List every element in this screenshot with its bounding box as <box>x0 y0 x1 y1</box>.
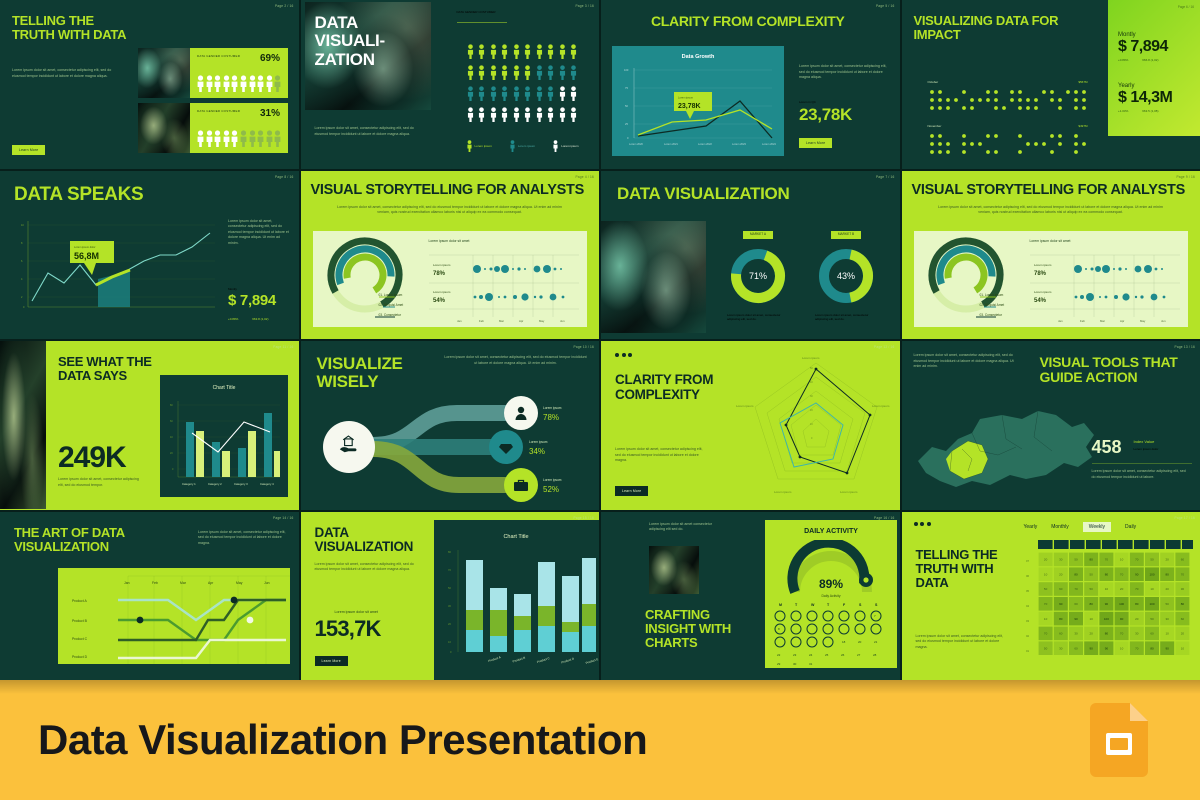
svg-text:60: 60 <box>1180 616 1184 620</box>
kpi-value: 153,7K <box>315 616 381 642</box>
pictogram-row <box>197 130 281 147</box>
svg-text:31: 31 <box>809 662 813 666</box>
page-number: Page 14 / 16 <box>273 516 293 520</box>
svg-text:43%: 43% <box>837 271 855 281</box>
legend-label: 01. Lorem ipsum <box>379 293 403 297</box>
panel-title: Lorem ipsum dolor sit amet <box>429 239 470 243</box>
svg-text:05: 05 <box>1026 589 1030 593</box>
page-number: Page 4 / 16 <box>575 175 594 179</box>
kpi-note: 666.8 (1,02) <box>1142 58 1158 63</box>
svg-text:25: 25 <box>625 122 628 126</box>
svg-text:80: 80 <box>1089 557 1093 561</box>
svg-text:Feb: Feb <box>1080 319 1085 323</box>
svg-text:100: 100 <box>624 68 629 72</box>
concentric-donut-chart <box>918 231 1028 327</box>
legend-label: 03. Consectetur <box>379 313 402 317</box>
period-tabs[interactable]: Yearly Monthly Weekly Daily <box>1024 522 1137 532</box>
slide-title: VISUAL TOOLS THAT GUIDE ACTION <box>1040 355 1190 385</box>
svg-text:Lorem ipsum: Lorem ipsum <box>872 404 890 408</box>
svg-text:10: 10 <box>1043 572 1047 576</box>
svg-text:30: 30 <box>1059 557 1063 561</box>
google-slides-icon <box>1090 703 1148 777</box>
svg-text:06: 06 <box>1026 574 1030 578</box>
svg-text:Apr: Apr <box>1120 319 1124 323</box>
tab-yearly[interactable]: Yearly <box>1024 524 1038 530</box>
svg-text:10: 10 <box>1150 587 1154 591</box>
area-chart[interactable]: Lorem ipsum dolor 56,8M 1086 420 JanFebM… <box>10 215 220 325</box>
screenshot-root: Page 2 / 16 TELLING THE TRUTH WITH DATA … <box>0 0 1200 800</box>
kpi-label: Montly <box>228 287 237 292</box>
svg-text:May: May <box>1140 319 1146 323</box>
svg-text:54%: 54% <box>433 298 446 304</box>
slide-title: TELLING THE TRUTH WITH DATA <box>12 14 132 42</box>
donut-chart: 43% <box>815 245 877 307</box>
panel-page-number: Page 6 / 16 <box>1178 5 1194 9</box>
svg-text:10: 10 <box>1089 616 1093 620</box>
svg-text:20: 20 <box>1043 557 1047 561</box>
svg-text:70: 70 <box>1074 587 1078 591</box>
svg-text:70: 70 <box>1104 557 1108 561</box>
kpi-value: $ 7,894 <box>1118 38 1190 56</box>
dot-matrix-october: October $567M <box>928 80 1088 112</box>
panel-title: DAILY ACTIVITY <box>765 528 897 535</box>
svg-text:23,78K: 23,78K <box>678 103 701 110</box>
slide-visualizing-data-for-impact[interactable]: Page 6 / 16 VISUALIZING DATA FOR IMPACT … <box>902 0 1200 169</box>
kpi-label: Lorem in Q4 <box>799 100 816 105</box>
gauge-chart: 89% Daily Activity <box>765 540 897 602</box>
svg-text:Product A: Product A <box>487 655 501 663</box>
slide-data-speaks[interactable]: Page 8 / 16 DATA SPEAKS Lorem ipsum dolo… <box>0 171 299 340</box>
svg-text:80: 80 <box>1104 631 1108 635</box>
svg-text:80: 80 <box>1074 572 1078 576</box>
dot-row-label: October <box>928 80 939 85</box>
slide-telling-the-truth-with-data-heatmap[interactable]: Page 17 / 16 TELLING THE TRUTH WITH DATA… <box>902 512 1200 681</box>
svg-text:20: 20 <box>1059 572 1063 576</box>
svg-text:90: 90 <box>1135 572 1139 576</box>
slide-body: Lorem ipsum dolor sit amet, consectetur … <box>799 64 891 81</box>
svg-text:27: 27 <box>857 653 861 657</box>
svg-text:78%: 78% <box>433 271 446 277</box>
svg-text:78%: 78% <box>1034 271 1047 277</box>
svg-text:Category 2: Category 2 <box>208 482 222 486</box>
legend-label: 02. Sit quisi Amet <box>379 303 404 307</box>
donut-caption: Lorem ipsum dolor sit amet, consectetur … <box>727 313 789 322</box>
svg-text:01: 01 <box>1026 649 1030 653</box>
slide-thumbnail-grid: Page 2 / 16 TELLING THE TRUTH WITH DATA … <box>0 0 1200 680</box>
line-chart-panel[interactable]: Data Growth 10075 50250 Lorem 2020Lorem … <box>612 46 784 156</box>
svg-text:50: 50 <box>1043 646 1047 650</box>
daily-activity-panel[interactable]: DAILY ACTIVITY 89% Daily Activity MTW TF… <box>765 520 897 668</box>
svg-text:Lorem 2023: Lorem 2023 <box>732 142 746 146</box>
donut-chart: 71% <box>727 245 789 307</box>
svg-text:Lorem ipsum: Lorem ipsum <box>840 490 858 494</box>
svg-text:50: 50 <box>810 367 813 370</box>
svg-text:Lorem ipsum: Lorem ipsum <box>433 290 451 294</box>
svg-text:90: 90 <box>1119 616 1123 620</box>
svg-text:50: 50 <box>1150 616 1154 620</box>
svg-text:80: 80 <box>1104 572 1108 576</box>
svg-text:60: 60 <box>1059 631 1063 635</box>
abstract-image <box>649 546 699 594</box>
slide-body: Lorem ipsum dolor sit amet, consectetur … <box>198 530 290 547</box>
panel-title: Lorem ipsum dolor sit amet <box>1030 239 1071 243</box>
svg-text:Jun: Jun <box>560 319 565 323</box>
divider <box>1092 463 1192 464</box>
stat-card-value: 31% <box>260 108 280 119</box>
svg-text:26: 26 <box>841 653 845 657</box>
slide-data-visualization-donuts[interactable]: Page 7 / 16 DATA VISUALIZATION MARKET A … <box>601 171 900 340</box>
svg-text:Product B: Product B <box>72 619 88 623</box>
svg-text:70: 70 <box>1119 631 1123 635</box>
svg-text:71%: 71% <box>749 271 767 281</box>
svg-text:Product C: Product C <box>536 655 551 663</box>
stat-card-2[interactable]: DATA GENDER COSTUMER 31% <box>190 103 288 153</box>
slide-title: TELLING THE TRUTH WITH DATA <box>916 548 1020 590</box>
slide-body: Lorem ipsum dolor sit amet, consectetur … <box>12 68 122 79</box>
svg-text:T: T <box>827 603 830 607</box>
slide-title: DATA SPEAKS <box>14 185 143 206</box>
svg-text:90: 90 <box>1104 646 1108 650</box>
slide-body: Lorem ipsum dolor sit amet, consectetur … <box>315 562 419 573</box>
learn-more-button[interactable]: Learn More <box>315 656 348 666</box>
svg-text:0: 0 <box>450 650 452 654</box>
svg-text:50: 50 <box>1165 602 1169 606</box>
svg-text:50: 50 <box>1043 587 1047 591</box>
stat-card-1[interactable]: DATA GENDER COSTUMER 69% <box>190 48 288 98</box>
slide-clarity-from-complexity-radar[interactable]: Page 12 / 16 CLARITY FROM COMPLEXITY Lor… <box>601 341 900 510</box>
svg-text:30: 30 <box>1074 631 1078 635</box>
svg-text:Category 3: Category 3 <box>234 482 248 486</box>
svg-text:56,8M: 56,8M <box>74 251 99 261</box>
slide-data-visualization-cover[interactable]: Page 3 / 16 DATA VISUALI-ZATION Lorem ip… <box>301 0 600 169</box>
chart-panel[interactable]: 01. Lorem ipsum 02. Sit quisi Amet 03. C… <box>914 231 1188 327</box>
svg-text:21: 21 <box>874 640 878 644</box>
svg-text:20: 20 <box>1180 631 1184 635</box>
slide-body: Lorem ipsum dolor sit amet, consectetur … <box>936 205 1166 216</box>
svg-text:20: 20 <box>1165 587 1169 591</box>
svg-text:Lorem ipsum: Lorem ipsum <box>802 356 820 360</box>
svg-text:30: 30 <box>1059 646 1063 650</box>
svg-text:60: 60 <box>1074 646 1078 650</box>
slide-title: DATA VISUALIZATION <box>315 526 425 555</box>
svg-text:Mar: Mar <box>499 319 504 323</box>
kpi-panel[interactable]: Page 6 / 16 Montly $ 7,894 +0.89% 666.8 … <box>1108 0 1200 136</box>
svg-text:10: 10 <box>1180 646 1184 650</box>
svg-text:34%: 34% <box>529 447 545 456</box>
svg-text:30: 30 <box>448 604 451 608</box>
svg-text:78%: 78% <box>543 413 559 422</box>
svg-text:30: 30 <box>1180 587 1184 591</box>
slide-body: Lorem ipsum dolor sit amet, consectetur … <box>315 126 423 137</box>
svg-text:Lorem ipsum: Lorem ipsum <box>1034 290 1052 294</box>
svg-text:80: 80 <box>1150 646 1154 650</box>
svg-text:Lorem ipsum dolor: Lorem ipsum dolor <box>74 245 96 249</box>
svg-text:20: 20 <box>448 622 451 626</box>
slide-body: Lorem ipsum dolor sit amet, consectetur … <box>615 447 707 464</box>
svg-text:S: S <box>875 603 878 607</box>
svg-text:60: 60 <box>1150 631 1154 635</box>
svg-text:07: 07 <box>1026 559 1030 563</box>
svg-text:Jan: Jan <box>457 319 462 323</box>
page-number: Page 7 / 16 <box>876 175 895 179</box>
svg-text:Product D: Product D <box>72 655 88 659</box>
svg-text:90: 90 <box>1165 646 1169 650</box>
svg-text:W: W <box>811 603 815 607</box>
divider <box>457 22 507 23</box>
svg-text:Lorem ipsum: Lorem ipsum <box>678 96 693 100</box>
legend: Lorem ipsum Lorem ipsum Lorem ipsum <box>467 140 579 152</box>
svg-text:4: 4 <box>21 278 23 281</box>
kpi-delta: +1.03% <box>1118 109 1128 114</box>
svg-text:Product D: Product D <box>560 656 575 664</box>
bar-chart-panel[interactable]: Chart Title <box>160 375 288 497</box>
svg-text:54%: 54% <box>1034 298 1047 304</box>
slide-visual-tools-that-guide-action[interactable]: Page 13 / 16 Lorem ipsum dolor sit amet,… <box>902 341 1200 510</box>
stacked-bar-panel[interactable]: Chart Title 807050 3020100 <box>434 520 599 680</box>
svg-text:100: 100 <box>1149 572 1154 576</box>
page-number: Page 13 / 16 <box>1175 345 1195 349</box>
svg-text:Apr: Apr <box>208 581 214 585</box>
slide-visual-storytelling-for-analysts-b[interactable]: Page 9 / 16 VISUAL STORYTELLING FOR ANAL… <box>902 171 1200 340</box>
legend-label: Lorem ipsum <box>518 144 535 149</box>
legend-label: 03. Consectetur <box>980 313 1003 317</box>
svg-text:Product C: Product C <box>72 637 88 641</box>
svg-text:Feb: Feb <box>479 319 484 323</box>
slide-title: DATA VISUALIZATION <box>617 185 789 203</box>
tab-daily[interactable]: Daily <box>1125 524 1136 530</box>
dot-row-value: $497M <box>1078 124 1087 129</box>
svg-text:70: 70 <box>1043 602 1047 606</box>
slide-see-what-the-data-says[interactable]: Page 11 / 16 SEE WHAT THE DATA SAYS 249K… <box>0 341 299 510</box>
svg-text:20: 20 <box>810 409 813 412</box>
pictogram-row <box>197 75 281 92</box>
learn-more-button[interactable]: Learn More <box>12 145 45 155</box>
flow-diagram: Lorem ipsum 78% Lorem ipsum 34% Lorem ip… <box>307 393 597 503</box>
svg-text:10: 10 <box>1119 646 1123 650</box>
svg-text:23: 23 <box>793 653 797 657</box>
slide-title: DATA VISUALI-ZATION <box>315 14 427 69</box>
heatmap-chart[interactable]: 2030508070107050206010208050807090100807… <box>1024 540 1194 665</box>
svg-text:Jun: Jun <box>264 581 270 585</box>
slide-clarity-from-complexity-line[interactable]: Page 5 / 16 CLARITY FROM COMPLEXITY Data… <box>601 0 900 169</box>
svg-text:M: M <box>779 603 782 607</box>
slide-title: THE ART OF DATA VISUALIZATION <box>14 526 164 554</box>
svg-text:70: 70 <box>1180 572 1184 576</box>
svg-text:20: 20 <box>1135 616 1139 620</box>
svg-text:25: 25 <box>825 653 829 657</box>
svg-text:89%: 89% <box>819 577 843 591</box>
kpi-value: 458 <box>1092 437 1122 458</box>
svg-text:10: 10 <box>1043 616 1047 620</box>
pictogram-matrix <box>467 44 578 122</box>
svg-text:Feb: Feb <box>152 581 158 585</box>
svg-text:24: 24 <box>809 653 813 657</box>
page-number: Page 5 / 16 <box>876 4 895 8</box>
svg-text:60: 60 <box>1074 602 1078 606</box>
slide-footer: Lorem ipsum dolor sit amet, consectetur … <box>1092 469 1190 480</box>
svg-text:10: 10 <box>21 224 24 227</box>
svg-text:90: 90 <box>1089 646 1093 650</box>
svg-text:Product E: Product E <box>585 657 599 665</box>
svg-text:80: 80 <box>1135 602 1139 606</box>
svg-text:70: 70 <box>1043 631 1047 635</box>
slide-crafting-insight-with-charts[interactable]: Page 16 / 16 Lorem ipsum dolor sit amet … <box>601 512 900 681</box>
svg-text:8: 8 <box>21 242 23 245</box>
svg-text:10: 10 <box>810 423 813 426</box>
svg-text:May: May <box>236 581 243 585</box>
page-number: Page 17 / 16 <box>1175 516 1195 520</box>
learn-more-button[interactable]: Learn More <box>615 486 648 496</box>
svg-text:18: 18 <box>842 640 846 644</box>
kpi-label: Lorem ipsum dolor sit amet <box>335 610 378 614</box>
slide-title: CLARITY FROM COMPLEXITY <box>615 373 735 402</box>
svg-text:28: 28 <box>873 653 877 657</box>
svg-text:04: 04 <box>1026 604 1030 608</box>
slide-body: Lorem ipsum dolor sit amet consectetur a… <box>649 522 721 533</box>
svg-text:100: 100 <box>1119 602 1124 606</box>
svg-text:75: 75 <box>625 86 628 90</box>
slide-body: Lorem ipsum dolor sit amet, consectetur … <box>58 477 144 488</box>
svg-text:50: 50 <box>625 104 628 108</box>
svg-text:7: 7 <box>874 614 876 618</box>
slide-title: CLARITY FROM COMPLEXITY <box>651 14 881 29</box>
svg-text:50: 50 <box>1074 557 1078 561</box>
radar-chart[interactable]: Lorem ipsumLorem ipsum Lorem ipsumLorem … <box>736 347 896 505</box>
svg-text:50: 50 <box>1089 572 1093 576</box>
tab-monthly[interactable]: Monthly <box>1051 524 1069 530</box>
svg-text:100: 100 <box>1103 616 1108 620</box>
svg-text:70: 70 <box>1119 572 1123 576</box>
three-dots-icon <box>615 353 632 357</box>
svg-text:Lorem 2020: Lorem 2020 <box>629 142 643 146</box>
svg-text:May: May <box>539 319 545 323</box>
concentric-donut-chart <box>317 231 427 327</box>
svg-text:80: 80 <box>448 550 451 554</box>
kpi-value: $ 7,894 <box>228 293 276 309</box>
page-number: Page 3 / 16 <box>575 4 594 8</box>
abstract-image <box>138 48 190 98</box>
svg-text:20: 20 <box>1089 631 1093 635</box>
svg-text:70: 70 <box>1135 646 1139 650</box>
kpi-delta: +0.89% <box>228 317 238 322</box>
svg-text:Lorem ipsum: Lorem ipsum <box>543 478 562 482</box>
svg-text:0: 0 <box>627 136 629 140</box>
legend-label: 01. Lorem ipsum <box>980 293 1004 297</box>
svg-text:20: 20 <box>1119 587 1123 591</box>
slide-title: SEE WHAT THE DATA SAYS <box>58 355 158 383</box>
abstract-image <box>138 103 190 153</box>
svg-text:10: 10 <box>448 640 451 644</box>
svg-text:30: 30 <box>1165 616 1169 620</box>
svg-text:90: 90 <box>1059 602 1063 606</box>
line-chart-panel[interactable]: JanFebMar AprMayJun Product AProduct B P… <box>58 568 290 664</box>
map-chart[interactable] <box>906 389 1106 499</box>
slide-title: CRAFTING INSIGHT WITH CHARTS <box>645 608 755 650</box>
svg-text:Category 1: Category 1 <box>182 482 196 486</box>
kpi-note: 663.5 (1,08) <box>1142 109 1158 114</box>
slide-visualize-wisely[interactable]: Page 10 / 16 VISUALIZE WISELY Lorem ipsu… <box>301 341 600 510</box>
svg-text:20: 20 <box>858 640 862 644</box>
donut-tag: MARKET A <box>743 232 773 236</box>
page-number: Page 10 / 16 <box>574 345 594 349</box>
svg-text:Lorem ipsum: Lorem ipsum <box>1034 263 1052 267</box>
slide-visual-storytelling-for-analysts-a[interactable]: Page 4 / 16 VISUAL STORYTELLING FOR ANAL… <box>301 171 600 340</box>
slide-title: VISUALIZING DATA FOR IMPACT <box>914 14 1064 42</box>
svg-text:80: 80 <box>1059 616 1063 620</box>
svg-text:10: 10 <box>1119 557 1123 561</box>
svg-text:50: 50 <box>448 586 451 590</box>
svg-text:0: 0 <box>811 437 813 440</box>
svg-text:Lorem ipsum: Lorem ipsum <box>774 490 792 494</box>
slide-telling-the-truth-with-data[interactable]: Page 2 / 16 TELLING THE TRUTH WITH DATA … <box>0 0 299 169</box>
slide-body: Lorem ipsum dolor sit amet, consectetur … <box>443 355 589 366</box>
donut-market-a[interactable]: MARKET A 71% Lorem ipsum dolor sit amet,… <box>727 231 789 322</box>
svg-text:F: F <box>843 603 846 607</box>
learn-more-button[interactable]: Learn More <box>799 138 832 148</box>
svg-text:Lorem ipsum: Lorem ipsum <box>433 263 451 267</box>
svg-text:Jan: Jan <box>1058 319 1063 323</box>
svg-text:70: 70 <box>1135 587 1139 591</box>
svg-text:Lorem ipsum: Lorem ipsum <box>736 404 754 408</box>
svg-text:90: 90 <box>1104 602 1108 606</box>
svg-text:60: 60 <box>170 420 173 423</box>
svg-text:03: 03 <box>1026 619 1030 623</box>
svg-text:70: 70 <box>1135 557 1139 561</box>
legend-label: Lorem ipsum <box>475 144 492 149</box>
page-number: Page 8 / 16 <box>275 175 294 179</box>
three-dots-icon <box>914 522 931 526</box>
dot-matrix-november: November $497M <box>928 124 1088 156</box>
svg-text:30: 30 <box>810 395 813 398</box>
svg-text:8: 8 <box>778 627 780 631</box>
calendar-grid: MTW TFSS 78 182021 222324 25262 <box>765 600 897 666</box>
svg-text:10: 10 <box>1104 587 1108 591</box>
slide-body: Lorem ipsum dolor sit amet, consectetur … <box>228 219 290 247</box>
page-number: Page 2 / 16 <box>275 4 294 8</box>
bubble-matrix: Lorem ipsumLorem ipsum 78%54% <box>429 247 579 325</box>
svg-text:0: 0 <box>172 468 174 471</box>
bubble-matrix: Lorem ipsumLorem ipsum 78%54% <box>1030 247 1180 325</box>
chart-panel[interactable]: 01. Lorem ipsum 02. Sit quisi Amet 03. C… <box>313 231 587 327</box>
slide-data-visualization-stacked-bars[interactable]: Page 15 / 16 DATA VISUALIZATION Lorem ip… <box>301 512 600 681</box>
svg-text:60: 60 <box>1059 587 1063 591</box>
donut-market-b[interactable]: MARKET B 43% Lorem ipsum dolor sit amet,… <box>815 231 877 322</box>
svg-text:T: T <box>795 603 798 607</box>
donut-caption: Lorem ipsum dolor sit amet, consectetur … <box>815 313 877 322</box>
svg-text:70: 70 <box>448 568 451 572</box>
slide-title: VISUAL STORYTELLING FOR ANALYSTS <box>311 183 589 199</box>
svg-text:30: 30 <box>793 662 797 666</box>
svg-text:30: 30 <box>1135 631 1139 635</box>
svg-text:22: 22 <box>777 653 781 657</box>
kpi-label: Index Value <box>1134 439 1155 444</box>
svg-text:80: 80 <box>1180 602 1184 606</box>
abstract-image <box>0 341 46 509</box>
tab-weekly[interactable]: Weekly <box>1083 522 1111 532</box>
svg-text:40: 40 <box>170 436 173 439</box>
svg-text:100: 100 <box>1149 602 1154 606</box>
dot-row-label: November <box>928 124 942 129</box>
svg-text:02: 02 <box>1026 634 1030 638</box>
slide-title: VISUALIZE WISELY <box>317 355 437 392</box>
slide-the-art-of-data-visualization[interactable]: Page 14 / 16 THE ART OF DATA VISUALIZATI… <box>0 512 299 681</box>
legend-label: Lorem ipsum <box>561 144 578 149</box>
abstract-image <box>601 221 706 333</box>
slide-body: Lorem ipsum dolor sit amet, consectetur … <box>914 353 1018 370</box>
svg-text:80: 80 <box>1089 602 1093 606</box>
svg-text:40: 40 <box>810 381 813 384</box>
legend-label: 02. Sit quisi Amet <box>980 303 1005 307</box>
